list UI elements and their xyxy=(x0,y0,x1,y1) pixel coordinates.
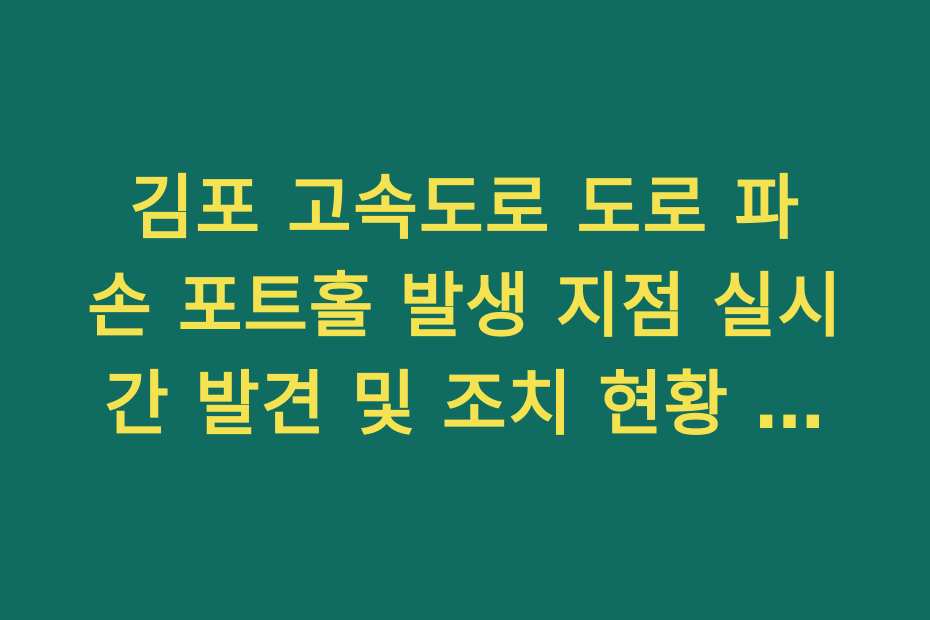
text-card: 김포 고속도로 도로 파 손 포트홀 발생 지점 실시 간 발견 및 조치 현황… xyxy=(0,0,930,620)
headline-line-3: 간 발견 및 조치 현황 … xyxy=(70,355,860,453)
headline-line-1: 김포 고속도로 도로 파 xyxy=(70,159,860,257)
headline-block: 김포 고속도로 도로 파 손 포트홀 발생 지점 실시 간 발견 및 조치 현황… xyxy=(70,159,860,453)
headline-line-2: 손 포트홀 발생 지점 실시 xyxy=(70,257,860,355)
